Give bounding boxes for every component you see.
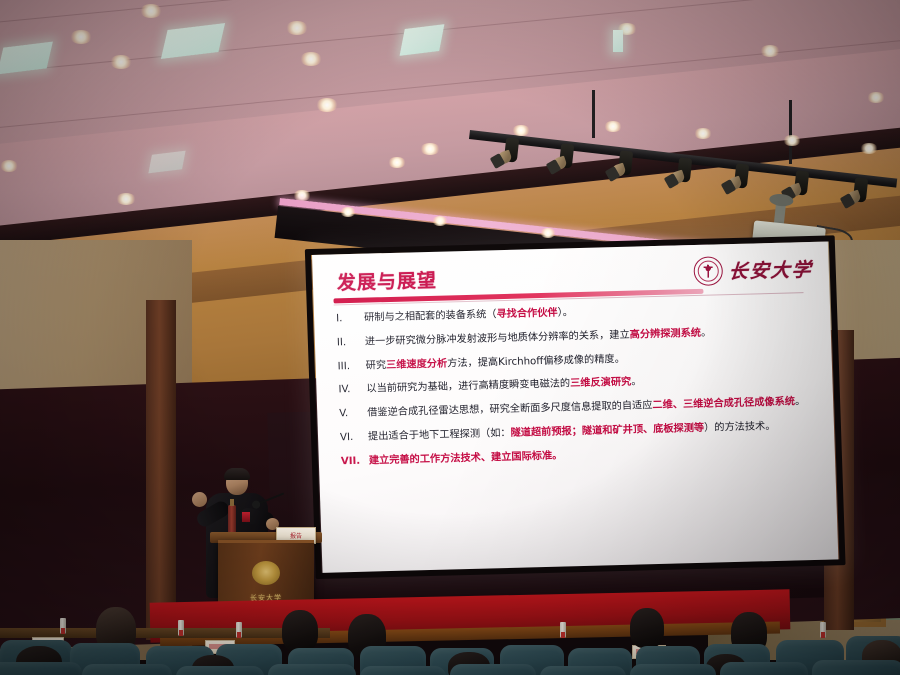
slide-bullet-plain: 方法，提高Kirchhoff偏移成像的精度。	[447, 353, 625, 369]
slide-bullet-item: VI.提出适合于地下工程探测（如：隧道超前预报；隧道和矿井顶、底板探测等）的方法…	[340, 419, 818, 446]
slide-bullet-plain: 以当前研究为基础，进行高精度瞬变电磁法的	[366, 379, 570, 395]
slide-bullet-number: III.	[337, 359, 365, 375]
slide-bullet-number: II.	[337, 335, 365, 351]
speaker-badge	[242, 512, 250, 522]
slide-bullet-plain: 借鉴逆合成孔径雷达思想，研究全断面多尺度信息提取的自适应	[367, 400, 653, 418]
audience-bottle	[820, 622, 826, 638]
slide-bullet-number: VII.	[341, 454, 369, 470]
auditorium-seat-front	[540, 666, 626, 675]
slide-bullet-text: 提出适合于地下工程探测（如：隧道超前预报；隧道和矿井顶、底板探测等）的方法技术。	[368, 419, 818, 446]
ceiling-downlight	[316, 98, 338, 112]
slide-bullet-plain: 。	[795, 396, 806, 407]
stage-spotlight	[504, 137, 519, 162]
audience-bottle	[60, 618, 66, 634]
speaker-left-hand	[192, 492, 207, 507]
slide-bullet-text: 借鉴逆合成孔径雷达思想，研究全断面多尺度信息提取的自适应二维、三维逆合成孔径成像…	[367, 395, 817, 422]
ceiling-downlight	[116, 193, 136, 205]
auditorium-seat-front	[720, 662, 808, 675]
pelmet-downlight	[432, 216, 448, 226]
slide-bullet-item: VII.建立完善的工作方法技术、建立国际标准。	[341, 442, 819, 469]
truss-drop-rod	[592, 90, 595, 138]
ceiling-panel-light	[613, 30, 623, 52]
audience-bottle	[560, 622, 566, 638]
slide-bullet-plain: 。	[701, 327, 712, 338]
slide-bullet-plain: 研制与之相配套的装备系统（	[364, 309, 497, 323]
presentation-slide: 发展与展望 长安大学 I.研制与之相配套的装备系统（寻找合作伙伴）。II.进一步…	[312, 241, 838, 572]
stage-spotlight	[677, 157, 692, 182]
audience-bottle	[236, 622, 242, 638]
slide-bullet-number: V.	[339, 407, 367, 423]
ceiling-downlight	[286, 21, 308, 35]
stage-spotlight	[734, 163, 749, 188]
auditorium-seat-front	[450, 664, 536, 675]
slide-bullet-highlight: 建立完善的工作方法技术、建立国际标准。	[369, 450, 563, 466]
university-seal-icon	[693, 256, 723, 286]
slide-bullet-plain: 进一步研究微分脉冲发射波形与地质体分辨率的关系，建立	[365, 329, 630, 347]
slide-bullet-highlight: 高分辨探测系统	[630, 328, 702, 341]
ceiling-downlight	[760, 45, 780, 57]
slide-bullet-text: 以当前研究为基础，进行高精度瞬变电磁法的三维反演研究。	[366, 371, 816, 398]
slide-bullet-plain: ）的方法技术。	[704, 421, 776, 434]
podium-gold-emblem-icon	[252, 561, 280, 585]
ceiling-downlight	[420, 143, 440, 155]
stage-spotlight	[559, 143, 574, 168]
slide-bullet-text: 研制与之相配套的装备系统（寻找合作伙伴）。	[364, 300, 814, 327]
slide-bullet-item: I.研制与之相配套的装备系统（寻找合作伙伴）。	[336, 300, 814, 327]
ceiling-downlight	[300, 52, 322, 66]
slide-bullet-number: VI.	[340, 431, 368, 447]
truss-lamp-glow	[783, 135, 801, 146]
slide-bullet-plain: ）。	[557, 307, 573, 318]
audience-bottle	[178, 620, 184, 636]
auditorium-seat-front	[0, 662, 82, 675]
slide-bullet-item: III.研究三维速度分析方法，提高Kirchhoff偏移成像的精度。	[337, 347, 815, 374]
slide-bullet-number: I.	[336, 312, 364, 328]
truss-drop-rod	[789, 100, 792, 164]
slide-bullet-highlight: 寻找合作伙伴	[496, 308, 557, 321]
slide-bullet-plain: 。	[631, 377, 642, 388]
ceiling-panel-light	[400, 24, 445, 56]
university-logo: 长安大学	[693, 254, 813, 286]
slide-bullet-highlight: 三维速度分析	[386, 358, 447, 371]
stage-spotlight	[618, 150, 633, 175]
auditorium-seat-front	[268, 664, 356, 675]
truss-lamp-glow	[512, 125, 530, 136]
slide-bullet-list: I.研制与之相配套的装备系统（寻找合作伙伴）。II.进一步研究微分脉冲发射波形与…	[336, 300, 819, 479]
projection-screen: 发展与展望 长安大学 I.研制与之相配套的装备系统（寻找合作伙伴）。II.进一步…	[312, 241, 838, 572]
slide-bullet-item: II.进一步研究微分脉冲发射波形与地质体分辨率的关系，建立高分辨探测系统。	[337, 324, 815, 351]
auditorium-seat-front	[176, 666, 264, 675]
truss-lamp-glow	[604, 121, 622, 132]
truss-lamp-glow	[694, 128, 712, 139]
ceiling-downlight	[867, 92, 885, 103]
truss-lamp-glow	[860, 143, 878, 154]
audience-head	[630, 608, 664, 648]
audience-head	[282, 610, 318, 652]
slide-title: 发展与展望	[336, 266, 437, 296]
slide-bullet-plain: 研究	[366, 360, 387, 372]
ceiling-downlight	[388, 157, 406, 168]
ceiling-downlight	[70, 30, 92, 44]
pelmet-downlight	[540, 228, 556, 238]
auditorium-seat-front	[82, 664, 172, 675]
slide-bullet-text: 建立完善的工作方法技术、建立国际标准。	[369, 442, 819, 469]
slide-bullet-text: 研究三维速度分析方法，提高Kirchhoff偏移成像的精度。	[365, 347, 815, 374]
slide-bullet-number: IV.	[338, 383, 366, 399]
university-name: 长安大学	[728, 255, 814, 284]
slide-bullet-item: V.借鉴逆合成孔径雷达思想，研究全断面多尺度信息提取的自适应二维、三维逆合成孔径…	[339, 395, 817, 422]
pelmet-downlight	[340, 207, 356, 217]
slide-bullet-highlight: 三维反演研究	[570, 377, 631, 390]
ceiling-downlight	[110, 55, 132, 69]
auditorium-seat-front	[812, 660, 900, 675]
speaker-hair	[224, 468, 250, 480]
auditorium-seat-front	[630, 664, 716, 675]
slide-bullet-item: IV.以当前研究为基础，进行高精度瞬变电磁法的三维反演研究。	[338, 371, 816, 398]
stage-spotlight	[853, 177, 868, 202]
slide-bullet-plain: 提出适合于地下工程探测（如：	[368, 428, 511, 443]
slide-bullet-highlight: 二维、三维逆合成孔径成像系统	[652, 397, 795, 412]
slide-bullet-highlight: 隧道超前预报；隧道和矿井顶、底板探测等	[510, 423, 704, 439]
auditorium-seat-front	[360, 666, 446, 675]
stage-spotlight	[794, 170, 809, 195]
slide-bullet-text: 进一步研究微分脉冲发射波形与地质体分辨率的关系，建立高分辨探测系统。	[365, 324, 815, 351]
ceiling-downlight	[0, 160, 18, 172]
auditorium-photo: 安全出口 EXIT 安全出口 EXIT 发展与展望	[0, 0, 900, 675]
proscenium-column-left	[146, 300, 176, 640]
ceiling-downlight	[140, 4, 162, 18]
